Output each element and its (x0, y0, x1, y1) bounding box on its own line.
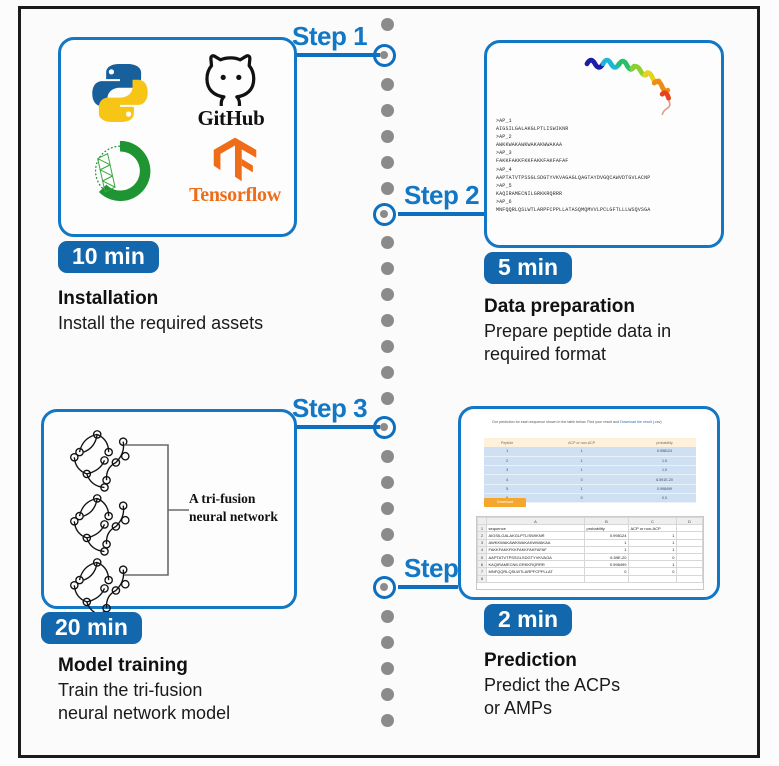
cell-empty[interactable] (677, 546, 703, 553)
table-row: 406.591E-20 (484, 475, 696, 484)
timeline-dot (381, 130, 394, 143)
row-number: 1 (478, 525, 487, 532)
th-acp-nonacp: ACP or non-ACP (530, 438, 633, 447)
step1-desc: Install the required assets (58, 312, 358, 335)
cell-sequence[interactable]: MNFQQRLQSLWTLARPFCPPLLAT (487, 568, 585, 575)
spreadsheet-row: 6 KAQIRAMECNILGRKKRQRRR 0.998499 1 (478, 561, 703, 568)
tensorflow-logo-label: Tensorflow (187, 184, 283, 207)
cell-sequence[interactable]: AAPTATVTPSSGLSDGTYVKVAGA (487, 553, 585, 560)
cell-label[interactable]: 0 (629, 568, 677, 575)
cell-sequence[interactable]: FAKKFAKKFKKFAKKFAKFAFAF (487, 546, 585, 553)
timeline-dot (381, 262, 394, 275)
row-number: 4 (478, 546, 487, 553)
cell-prob: 0.998124 (633, 447, 696, 456)
th-peptide: Peptide (484, 438, 530, 447)
cell-prob: 1.0 (633, 456, 696, 465)
col-header-c[interactable]: C (629, 518, 677, 525)
step-label-3: Step 3 (292, 393, 367, 424)
workflow-figure: Step 1 GitHub (0, 0, 779, 766)
step4-card: Our prediction for each sequence shown i… (458, 406, 720, 600)
row-number: 6 (478, 561, 487, 568)
timeline-dot (381, 156, 394, 169)
step-label-1: Step 1 (292, 21, 367, 52)
row-number: 5 (478, 553, 487, 560)
timeline-dot (381, 502, 394, 515)
step-label-2: Step 2 (404, 180, 479, 211)
cell-label[interactable]: 0 (629, 553, 677, 560)
corner-cell (478, 518, 487, 525)
cell-empty[interactable] (677, 575, 703, 582)
workflow-timeline (378, 18, 400, 734)
cell-label[interactable]: 1 (629, 539, 677, 546)
step4-title: Prediction (484, 650, 577, 672)
timeline-dot (381, 236, 394, 249)
web-result-panel: Our prediction for each sequence shown i… (470, 415, 708, 511)
cell-peptide: 1 (484, 447, 530, 456)
cell-probability[interactable]: 0.998124 (585, 532, 629, 539)
timeline-dot (381, 104, 394, 117)
table-row: 311.0 (484, 465, 696, 474)
numpy-logo (87, 140, 157, 206)
timeline-dot (381, 610, 394, 623)
cell-d1[interactable] (677, 525, 703, 532)
timeline-dot (381, 366, 394, 379)
tri-fusion-annotation-line1: A tri-fusion (189, 490, 278, 508)
cell-label[interactable]: 1 (629, 532, 677, 539)
spreadsheet-row: 5 AAPTATVTPSSGLSDGTYVKVAGA 6.59E-20 0 (478, 553, 703, 560)
cell-empty[interactable] (585, 575, 629, 582)
step2-title: Data preparation (484, 296, 635, 318)
timeline-dot (381, 392, 394, 405)
cell-a1[interactable]: sequence (487, 525, 585, 532)
timeline-dot (381, 528, 394, 541)
cell-sequence[interactable]: KAQIRAMECNILGRKKRQRRR (487, 561, 585, 568)
cell-prob: 1.0 (633, 465, 696, 474)
cell-label[interactable]: 1 (629, 546, 677, 553)
cell-empty[interactable] (487, 575, 585, 582)
connector-step2 (398, 212, 484, 216)
cell-peptide: 5 (484, 484, 530, 493)
table-row: 510.998499 (484, 484, 696, 493)
col-header-d[interactable]: D (677, 518, 703, 525)
cell-b1[interactable]: probability (585, 525, 629, 532)
timeline-dot (381, 554, 394, 567)
table-header-row: Peptide ACP or non-ACP probability (484, 438, 696, 447)
cell-empty[interactable] (677, 553, 703, 560)
spreadsheet-row: 7 MNFQQRLQSLWTLARPFCPPLLAT 0 0 (478, 568, 703, 575)
step4-desc-line1: Predict the ACPs (484, 674, 764, 697)
cell-c1[interactable]: ACP or non-ACP (629, 525, 677, 532)
tensorflow-logo: Tensorflow (187, 136, 283, 208)
timeline-dot (381, 78, 394, 91)
cell-probability[interactable]: 1 (585, 539, 629, 546)
github-logo-label: GitHub (183, 106, 279, 131)
connector-step3 (297, 425, 380, 429)
step2-time-badge: 5 min (484, 252, 572, 284)
cell-sequence[interactable]: AWKKWAKAWKWAKAKWWAKAA (487, 539, 585, 546)
col-header-a[interactable]: A (487, 518, 585, 525)
cell-peptide: 2 (484, 456, 530, 465)
cell-class: 1 (530, 447, 633, 456)
timeline-dot (381, 450, 394, 463)
step4-desc-line2: or AMPs (484, 697, 764, 720)
timeline-dot (381, 314, 394, 327)
cell-peptide: 4 (484, 475, 530, 484)
cell-sequence[interactable]: AIGSILGALAKGLPTLISWIKNR (487, 532, 585, 539)
spreadsheet-row: 2 AIGSILGALAKGLPTLISWIKNR 0.998124 1 (478, 532, 703, 539)
step3-title: Model training (58, 655, 188, 677)
timeline-node-step2[interactable] (373, 203, 396, 226)
cell-class: 0 (530, 494, 633, 503)
cell-peptide: 3 (484, 465, 530, 474)
cell-empty[interactable] (677, 539, 703, 546)
step2-desc-line1: Prepare peptide data in (484, 320, 764, 343)
step1-title: Installation (58, 288, 158, 310)
web-note-post: (.csv) (653, 420, 662, 424)
row-number: 8 (478, 575, 487, 582)
spreadsheet-row: 8 (478, 575, 703, 582)
step3-desc-line2: neural network model (58, 702, 358, 725)
cell-probability[interactable]: 0.998499 (585, 561, 629, 568)
timeline-dot (381, 340, 394, 353)
step1-card: GitHub Tensorflow (58, 37, 297, 237)
github-logo: GitHub (183, 54, 279, 126)
row-number: 7 (478, 568, 487, 575)
fasta-sequence-text: >AP_1 AIGSILGALAKGLPTLISWIKNR >AP_2 AWKK… (496, 117, 650, 214)
step2-desc-line2: required format (484, 343, 764, 366)
spreadsheet-row: 3 AWKKWAKAWKWAKAKWWAKAA 1 1 (478, 539, 703, 546)
connector-step1 (297, 53, 380, 57)
spreadsheet-column-header-row: A B C D (478, 518, 703, 525)
web-result-note: Our prediction for each sequence shown i… (492, 420, 662, 424)
spreadsheet-table: A B C D 1 sequence probability ACP or no… (477, 517, 703, 583)
spreadsheet-row: 1 sequence probability ACP or non-ACP (478, 525, 703, 532)
spreadsheet-row: 4 FAKKFAKKFKKFAKKFAKFAFAF 1 1 (478, 546, 703, 553)
web-result-table: Peptide ACP or non-ACP probability 110.9… (484, 438, 696, 503)
cell-empty[interactable] (677, 561, 703, 568)
tri-fusion-annotation-line2: neural network (189, 508, 278, 526)
row-number: 3 (478, 539, 487, 546)
python-logo (83, 60, 157, 126)
connector-step4 (398, 585, 458, 589)
cell-probability[interactable]: 6.59E-20 (585, 553, 629, 560)
table-row: 110.998124 (484, 447, 696, 456)
step2-card: >AP_1 AIGSILGALAKGLPTLISWIKNR >AP_2 AWKK… (484, 40, 724, 248)
cell-class: 1 (530, 484, 633, 493)
step3-card: A tri-fusion neural network (41, 409, 297, 609)
cell-prob: 0.998499 (633, 484, 696, 493)
row-number: 2 (478, 532, 487, 539)
spreadsheet-panel: A B C D 1 sequence probability ACP or no… (476, 516, 704, 590)
table-row: 211.0 (484, 456, 696, 465)
step3-time-badge: 20 min (41, 612, 142, 644)
cell-empty[interactable] (677, 568, 703, 575)
timeline-dot (381, 714, 394, 727)
step1-time-badge: 10 min (58, 241, 159, 273)
cell-prob: 6.591E-20 (633, 475, 696, 484)
timeline-dot (381, 18, 394, 31)
timeline-dot (381, 688, 394, 701)
timeline-dot (381, 662, 394, 675)
step3-desc-line1: Train the tri-fusion (58, 679, 358, 702)
download-result-link[interactable]: Download the result (620, 420, 652, 424)
cell-class: 0 (530, 475, 633, 484)
cell-class: 1 (530, 456, 633, 465)
cell-probability[interactable]: 1 (585, 546, 629, 553)
cell-empty[interactable] (677, 532, 703, 539)
cell-prob: 0.0 (633, 494, 696, 503)
download-button[interactable]: Download (484, 498, 526, 507)
web-note-pre: Our prediction for each sequence shown i… (492, 420, 619, 424)
cell-probability[interactable]: 0 (585, 568, 629, 575)
cell-empty[interactable] (629, 575, 677, 582)
step4-time-badge: 2 min (484, 604, 572, 636)
timeline-node-step4[interactable] (373, 576, 396, 599)
cell-label[interactable]: 1 (629, 561, 677, 568)
col-header-b[interactable]: B (585, 518, 629, 525)
timeline-dot (381, 476, 394, 489)
timeline-dot (381, 636, 394, 649)
th-probability: probability (633, 438, 696, 447)
cell-class: 1 (530, 465, 633, 474)
timeline-dot (381, 288, 394, 301)
timeline-dot (381, 182, 394, 195)
